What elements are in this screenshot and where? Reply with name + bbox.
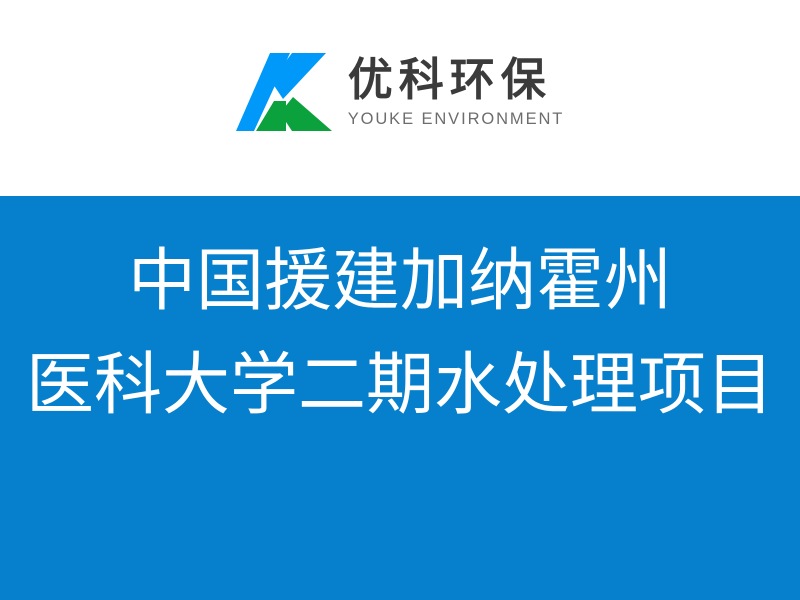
title-stack: 中国援建加纳霍州 医科大学二期水处理项目: [0, 196, 800, 420]
brand-name-en: YOUKE ENVIRONMENT: [348, 111, 565, 128]
project-title-line-1: 中国援建加纳霍州: [128, 248, 672, 316]
project-title-line-2: 医科大学二期水处理项目: [26, 352, 774, 420]
title-banner: 中国援建加纳霍州 医科大学二期水处理项目: [0, 196, 800, 600]
header-band: 优科环保 YOUKE ENVIRONMENT: [0, 0, 800, 196]
brand-wordmark: 优科环保 YOUKE ENVIRONMENT: [348, 57, 565, 128]
brand-name-cn: 优科环保: [348, 57, 552, 102]
brand-lockup: 优科环保 YOUKE ENVIRONMENT: [236, 53, 565, 131]
slide-root: 优科环保 YOUKE ENVIRONMENT 中国援建加纳霍州 医科大学二期水处…: [0, 0, 800, 600]
youke-k-mark-logo: [236, 53, 332, 131]
